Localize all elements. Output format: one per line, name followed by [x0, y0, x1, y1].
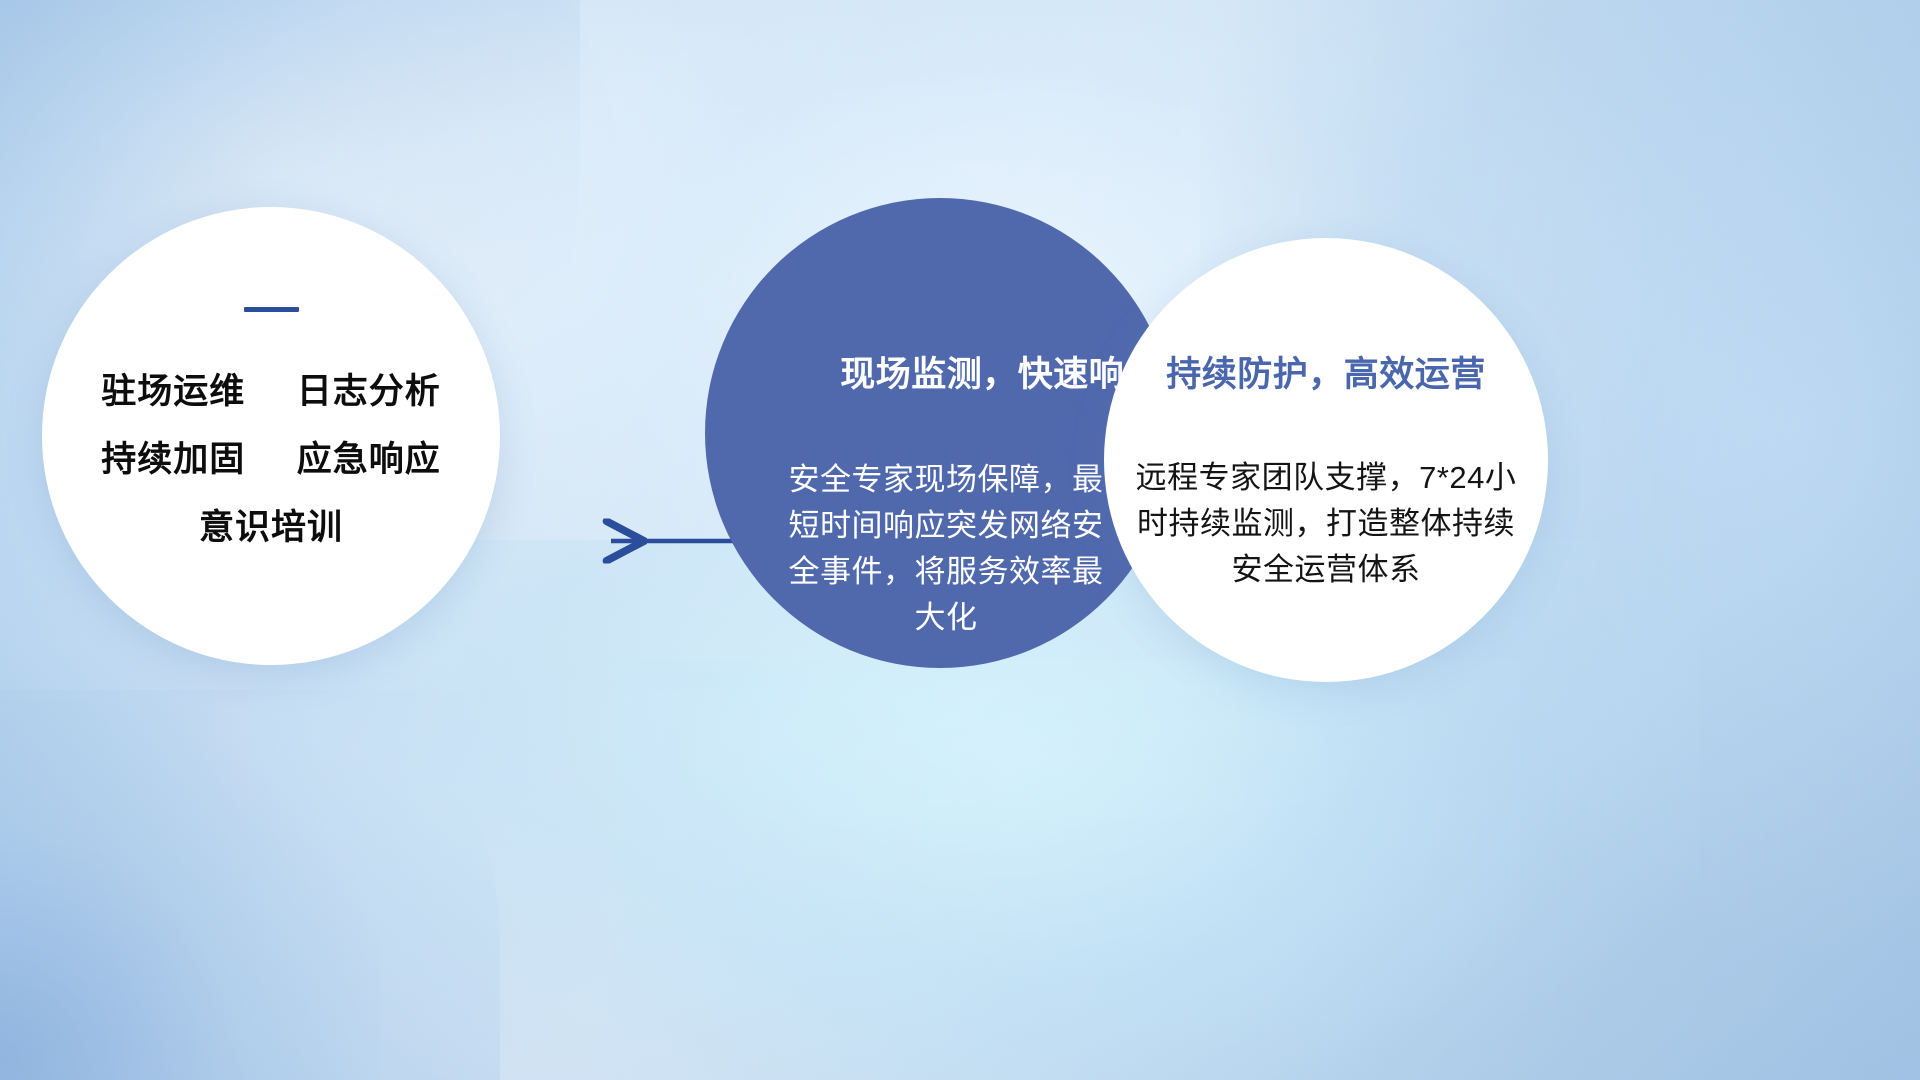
capability-tag: 应急响应	[297, 440, 441, 479]
slide-canvas: 驻场运维 日志分析 持续加固 应急响应 意识培训 现场监测，快速响应 安全专家现…	[0, 0, 1920, 1080]
background-streak-corner	[0, 700, 380, 1080]
middle-circle-body: 安全专家现场保障，最短时间响应突发网络安全事件，将服务效率最大化	[781, 457, 1111, 641]
capability-tag: 持续加固	[101, 440, 245, 479]
right-circle-body: 远程专家团队支撑，7*24小时持续监测，打造整体持续安全运营体系	[1130, 455, 1522, 593]
background-haze-bottom-center	[620, 660, 1520, 1080]
right-circle-content: 持续防护，高效运营 远程专家团队支撑，7*24小时持续监测，打造整体持续安全运营…	[1104, 346, 1548, 593]
left-divider-dash	[244, 307, 299, 312]
capability-row: 驻场运维 日志分析	[42, 374, 500, 409]
capability-tag: 意识培训	[199, 508, 343, 547]
capability-row: 持续加固 应急响应	[42, 442, 500, 477]
capability-tag: 日志分析	[297, 372, 441, 411]
left-circle-content: 驻场运维 日志分析 持续加固 应急响应 意识培训	[42, 307, 500, 545]
right-circle-card: 持续防护，高效运营 远程专家团队支撑，7*24小时持续监测，打造整体持续安全运营…	[1104, 238, 1548, 682]
capability-row: 意识培训	[42, 510, 500, 545]
capability-tag: 驻场运维	[101, 372, 245, 411]
left-circle-card: 驻场运维 日志分析 持续加固 应急响应 意识培训	[42, 207, 500, 665]
right-circle-heading: 持续防护，高效运营	[1130, 346, 1522, 397]
